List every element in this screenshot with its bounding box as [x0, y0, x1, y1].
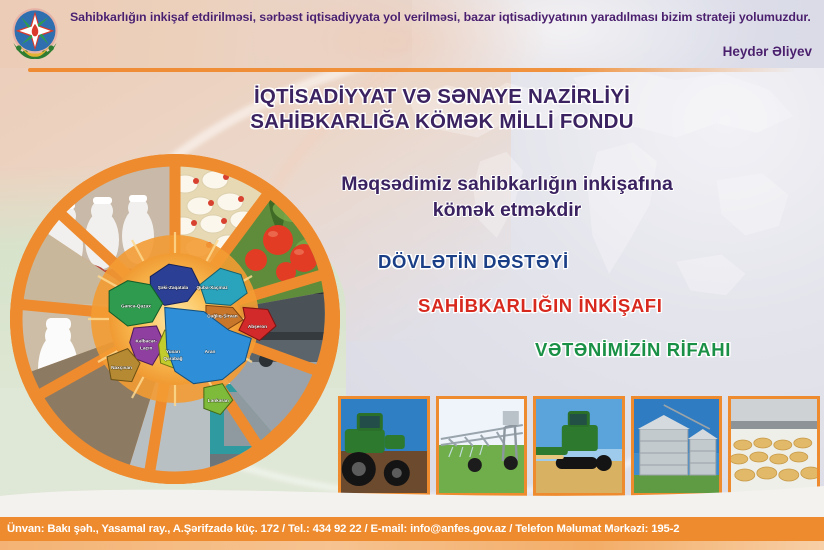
- slogan-homeland-prosperity: VƏTƏNİMİZİN RİFAHI: [535, 339, 731, 361]
- agriculture-photo-strip: [338, 396, 820, 496]
- poster-root: Sahibkarlığın inkişaf etdirilməsi, sərbə…: [0, 0, 824, 550]
- header-divider-rule: [28, 68, 796, 72]
- grain-silo-photo: [631, 396, 723, 496]
- organization-title-line1: İQTİSADİYYAT VƏ SƏNAYE NAZİRLİYİ: [182, 84, 702, 109]
- footer-bottom-accent: [0, 541, 824, 550]
- quote-author: Heydər Əliyev: [723, 44, 812, 59]
- slogan-entrepreneurship-growth: SAHİBKARLIĞIN İNKİŞAFI: [418, 295, 662, 317]
- combine-photo: [533, 396, 625, 496]
- footer-bar-container: Ünvan: Bakı şəh., Yasamal ray., A.Şərifz…: [0, 508, 824, 550]
- industry-wheel-collage: KALTENBACH: [10, 154, 340, 484]
- tractor-photo: [338, 396, 430, 496]
- slogan-state-support: DÖVLƏTİN DƏSTƏYİ: [378, 251, 569, 273]
- mission-line1: Məqsədimiz sahibkarlığın inkişafına: [292, 172, 722, 198]
- footer-contact-bar: Ünvan: Bakı şəh., Yasamal ray., A.Şərifz…: [0, 517, 824, 541]
- header-banner: Sahibkarlığın inkişaf etdirilməsi, sərbə…: [0, 0, 824, 68]
- heydar-aliyev-quote: Sahibkarlığın inkişaf etdirilməsi, sərbə…: [70, 9, 816, 27]
- organization-title-line2: SAHİBKARLIĞA KÖMƏK MİLLİ FONDU: [182, 109, 702, 134]
- footer-wave-divider: [0, 482, 824, 508]
- footer-contact-text: Ünvan: Bakı şəh., Yasamal ray., A.Şərifz…: [0, 523, 679, 535]
- azerbaijan-coat-of-arms-icon: [8, 5, 62, 61]
- organization-title: İQTİSADİYYAT VƏ SƏNAYE NAZİRLİYİ SAHİBKA…: [182, 84, 702, 134]
- mission-line2: kömək etməkdir: [292, 198, 722, 224]
- mission-statement: Məqsədimiz sahibkarlığın inkişafına kömə…: [292, 172, 722, 223]
- bakery-photo: [728, 396, 820, 496]
- irrigation-photo: [436, 396, 528, 496]
